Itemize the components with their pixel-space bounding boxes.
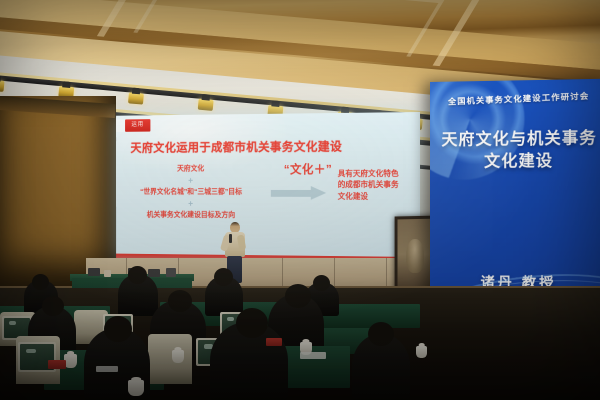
- slide-left-item: “世界文化名城”和“三城三都”目标: [116, 188, 271, 196]
- slide-plus-sign: +: [116, 199, 271, 209]
- attendee-head: [214, 268, 233, 286]
- attendee-head: [128, 266, 147, 284]
- slide-left-item: 机关事务文化建设目标及方向: [116, 211, 271, 220]
- table-item: [166, 268, 176, 277]
- banner-title: 天府文化与机关事务 文化建设: [430, 128, 600, 174]
- banner-title-line2: 文化建设: [430, 150, 600, 173]
- right-arrow-icon: [271, 186, 330, 200]
- seat-back: [148, 334, 192, 384]
- table-item: [88, 268, 100, 276]
- slide-right-column: 具有天府文化特色 的成都市机关事务 文化建设: [338, 168, 420, 202]
- teacup: [416, 346, 427, 358]
- slide-title: 天府文化运用于成都市机关事务文化建设: [130, 136, 406, 155]
- banner-title-line1: 天府文化与机关事务: [430, 128, 600, 152]
- attendee-head: [32, 274, 49, 290]
- slide-left-column: 天府文化 + “世界文化名城”和“三城三都”目标 + 机关事务文化建设目标及方向: [116, 165, 271, 220]
- attendee-head: [285, 284, 311, 308]
- slide-right-item: 具有天府文化特色: [338, 168, 420, 179]
- attendee-head: [42, 296, 64, 316]
- teacup: [128, 380, 144, 396]
- paper-sheet: [96, 366, 118, 372]
- slide-section-tab: 运用: [125, 119, 150, 132]
- teacup: [172, 350, 184, 363]
- attendee-head: [168, 290, 192, 312]
- red-booklet: [48, 360, 66, 369]
- table-item: [148, 269, 160, 277]
- conference-hall-photo: 运用 天府文化运用于成都市机关事务文化建设 天府文化 + “世界文化名城”和“三…: [0, 0, 600, 400]
- red-booklet: [266, 338, 282, 346]
- microphone-icon: [229, 234, 232, 243]
- slide-left-item: 天府文化: [116, 165, 271, 173]
- attendee-head: [313, 275, 330, 291]
- audience-area: [0, 288, 600, 400]
- attendee-head: [236, 308, 268, 338]
- attendee-head: [104, 316, 132, 342]
- attendee-head: [368, 322, 394, 346]
- projection-screen: 运用 天府文化运用于成都市机关事务文化建设 天府文化 + “世界文化名城”和“三…: [116, 112, 420, 264]
- paper-sheet: [300, 352, 326, 359]
- table-item: [104, 270, 111, 277]
- slide-right-item: 的成都市机关事务: [338, 179, 420, 190]
- slide-right-item: 文化建设: [338, 191, 420, 202]
- slide-plus-sign: +: [116, 175, 271, 185]
